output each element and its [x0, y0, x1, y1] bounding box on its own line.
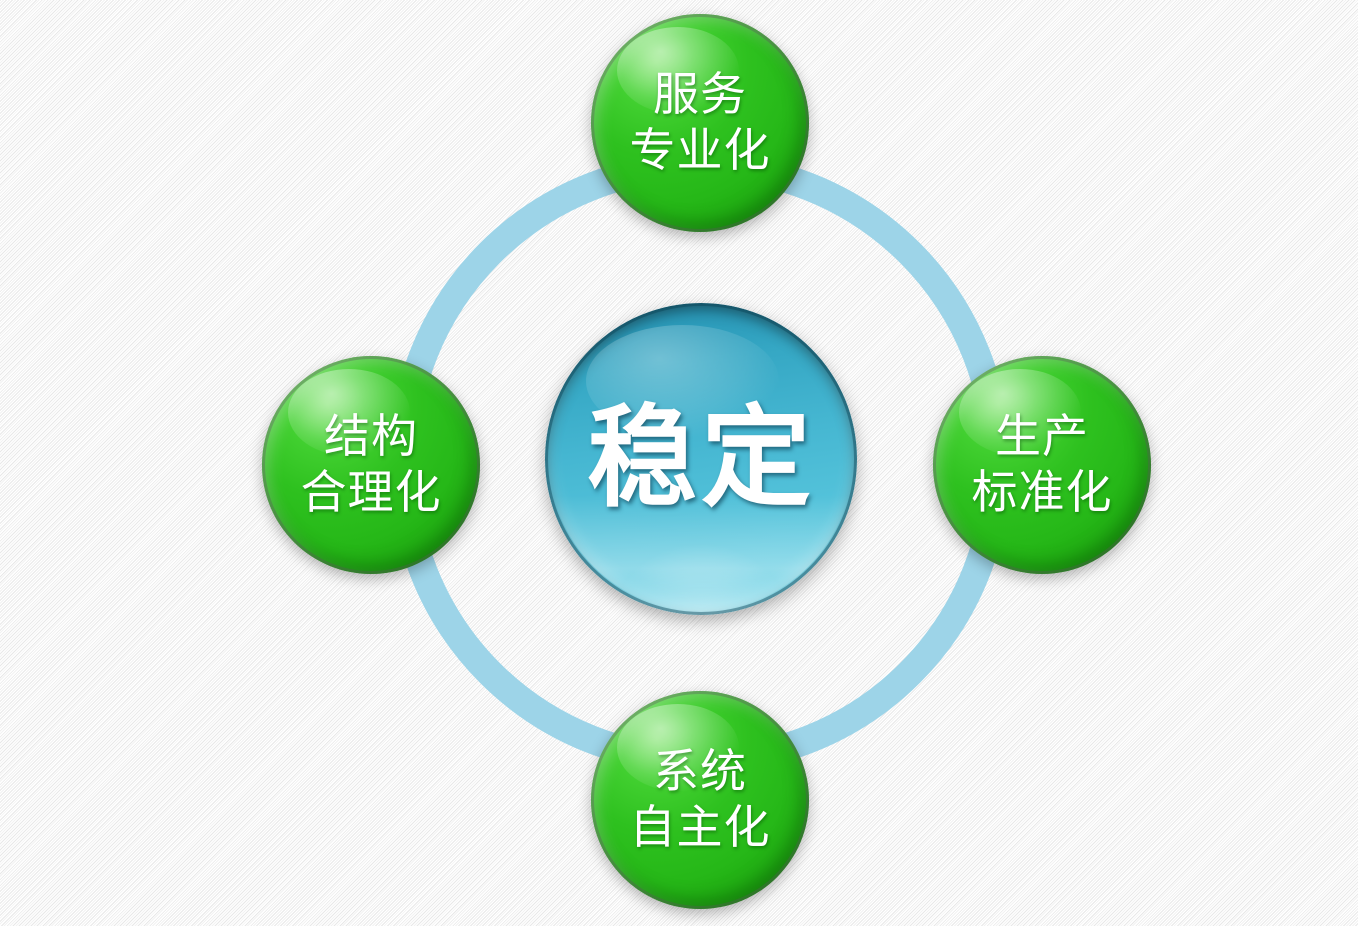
node-label-right: 生产 标准化 [972, 409, 1113, 521]
node-label-top: 服务 专业化 [630, 67, 771, 179]
node-label-bottom: 系统 自主化 [630, 744, 771, 856]
node-service-professionalization[interactable]: 服务 专业化 [591, 14, 809, 232]
node-structure-rationalization[interactable]: 结构 合理化 [262, 356, 480, 574]
center-node-label: 稳定 [587, 401, 815, 517]
center-node-stability[interactable]: 稳定 [545, 303, 857, 615]
node-production-standardization[interactable]: 生产 标准化 [933, 356, 1151, 574]
node-label-left: 结构 合理化 [301, 409, 442, 521]
diagram-canvas: 服务 专业化 生产 标准化 系统 自主化 结构 合理化 稳定 [0, 0, 1358, 926]
node-system-autonomy[interactable]: 系统 自主化 [591, 691, 809, 909]
